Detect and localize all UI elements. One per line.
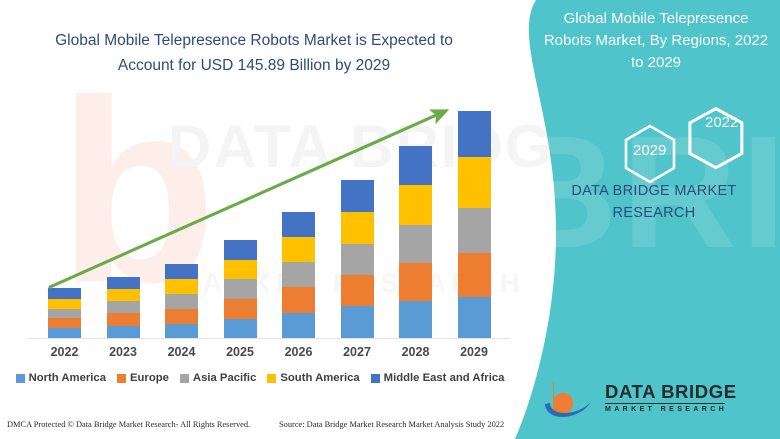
bar-2029	[458, 111, 491, 338]
bar-segment	[458, 111, 491, 157]
bar-segment	[107, 289, 140, 301]
bar-2024	[165, 264, 198, 338]
bar-segment	[458, 253, 491, 297]
footer-copyright: DMCA Protected © Data Bridge Market Rese…	[7, 420, 250, 429]
legend-item-0[interactable]: North America	[16, 372, 106, 384]
bar-segment	[165, 309, 198, 324]
bar-segment	[107, 301, 140, 313]
right-panel: BRIDGE Global Mobile Telepresence Robots…	[520, 0, 780, 439]
legend-swatch-icon	[371, 374, 380, 383]
x-label-2029: 2029	[444, 345, 504, 359]
x-label-2028: 2028	[386, 345, 446, 359]
infographic-canvas: b DATA BRIDG MARKET RESEARCH Global Mobi…	[0, 0, 780, 439]
bar-segment	[224, 299, 257, 319]
bar-2027	[341, 180, 374, 338]
legend-swatch-icon	[117, 374, 126, 383]
bar-segment	[224, 240, 257, 260]
hexagon-label-2022: 2022	[705, 114, 738, 131]
hexagon-label-2029: 2029	[633, 142, 666, 159]
bar-segment	[165, 279, 198, 294]
bar-segment	[224, 279, 257, 299]
bar-segment	[107, 277, 140, 289]
logo-text: DATA BRIDGE MARKET RESEARCH	[605, 382, 737, 413]
bar-segment	[341, 212, 374, 244]
x-label-2027: 2027	[327, 345, 387, 359]
x-label-2025: 2025	[210, 345, 270, 359]
bar-segment	[399, 185, 432, 225]
logo-tagline: MARKET RESEARCH	[605, 406, 737, 413]
legend-label: South America	[280, 372, 359, 384]
bar-segment	[107, 313, 140, 326]
bar-segment	[399, 301, 432, 338]
bar-segment	[224, 260, 257, 279]
legend-item-4[interactable]: Middle East and Africa	[371, 372, 505, 384]
bar-2026	[282, 212, 315, 338]
footer: DMCA Protected © Data Bridge Market Rese…	[0, 408, 520, 439]
bar-segment	[48, 288, 81, 299]
footer-source: Source: Data Bridge Market Research Mark…	[279, 420, 504, 429]
bar-2022	[48, 288, 81, 338]
bar-segment	[399, 146, 432, 185]
bar-segment	[48, 299, 81, 309]
bar-segment	[282, 237, 315, 262]
bar-segment	[341, 275, 374, 306]
legend-item-3[interactable]: South America	[267, 372, 359, 384]
bar-segment	[282, 313, 315, 338]
bar-segment	[282, 287, 315, 313]
logo-mark-icon	[541, 378, 599, 420]
bar-segment	[458, 208, 491, 253]
legend-label: North America	[29, 372, 106, 384]
legend-swatch-icon	[16, 374, 25, 383]
bar-segment	[399, 225, 432, 263]
x-label-2024: 2024	[152, 345, 212, 359]
logo-name: DATA BRIDGE	[605, 382, 737, 402]
bar-segment	[458, 157, 491, 208]
bar-segment	[458, 297, 491, 338]
x-label-2026: 2026	[269, 345, 329, 359]
bar-segment	[399, 263, 432, 301]
x-axis-labels: 20222023202420252026202720282029	[0, 345, 520, 367]
legend-swatch-icon	[267, 374, 276, 383]
bar-segment	[48, 318, 81, 328]
bar-segment	[165, 264, 198, 279]
bar-segment	[48, 309, 81, 318]
right-panel-title: Global Mobile Telepresence Robots Market…	[540, 8, 772, 74]
logo: DATA BRIDGE MARKET RESEARCH	[541, 378, 771, 424]
bar-2028	[399, 146, 432, 338]
bar-segment	[107, 326, 140, 338]
legend-item-1[interactable]: Europe	[117, 372, 169, 384]
bar-segment	[282, 212, 315, 237]
bar-segment	[282, 262, 315, 287]
bar-segment	[341, 180, 374, 212]
legend-label: Asia Pacific	[193, 372, 256, 384]
legend-swatch-icon	[180, 374, 189, 383]
legend-label: Europe	[130, 372, 169, 384]
bar-segment	[165, 294, 198, 309]
chart-baseline	[28, 338, 510, 339]
bar-segment	[341, 244, 374, 275]
bar-segment	[165, 324, 198, 338]
x-label-2023: 2023	[93, 345, 153, 359]
bar-segment	[341, 306, 374, 338]
logo-divider	[605, 403, 725, 404]
legend-label: Middle East and Africa	[384, 372, 505, 384]
hexagon-group: 2022 2029	[520, 88, 780, 193]
chart-legend: North AmericaEuropeAsia PacificSouth Ame…	[0, 372, 520, 384]
legend-item-2[interactable]: Asia Pacific	[180, 372, 256, 384]
right-panel-brand: DATA BRIDGE MARKET RESEARCH	[536, 180, 772, 224]
chart-plot-area	[0, 0, 520, 345]
bar-segment	[48, 328, 81, 338]
bar-2025	[224, 240, 257, 338]
bar-2023	[107, 277, 140, 338]
bar-segment	[224, 319, 257, 338]
x-label-2022: 2022	[35, 345, 95, 359]
